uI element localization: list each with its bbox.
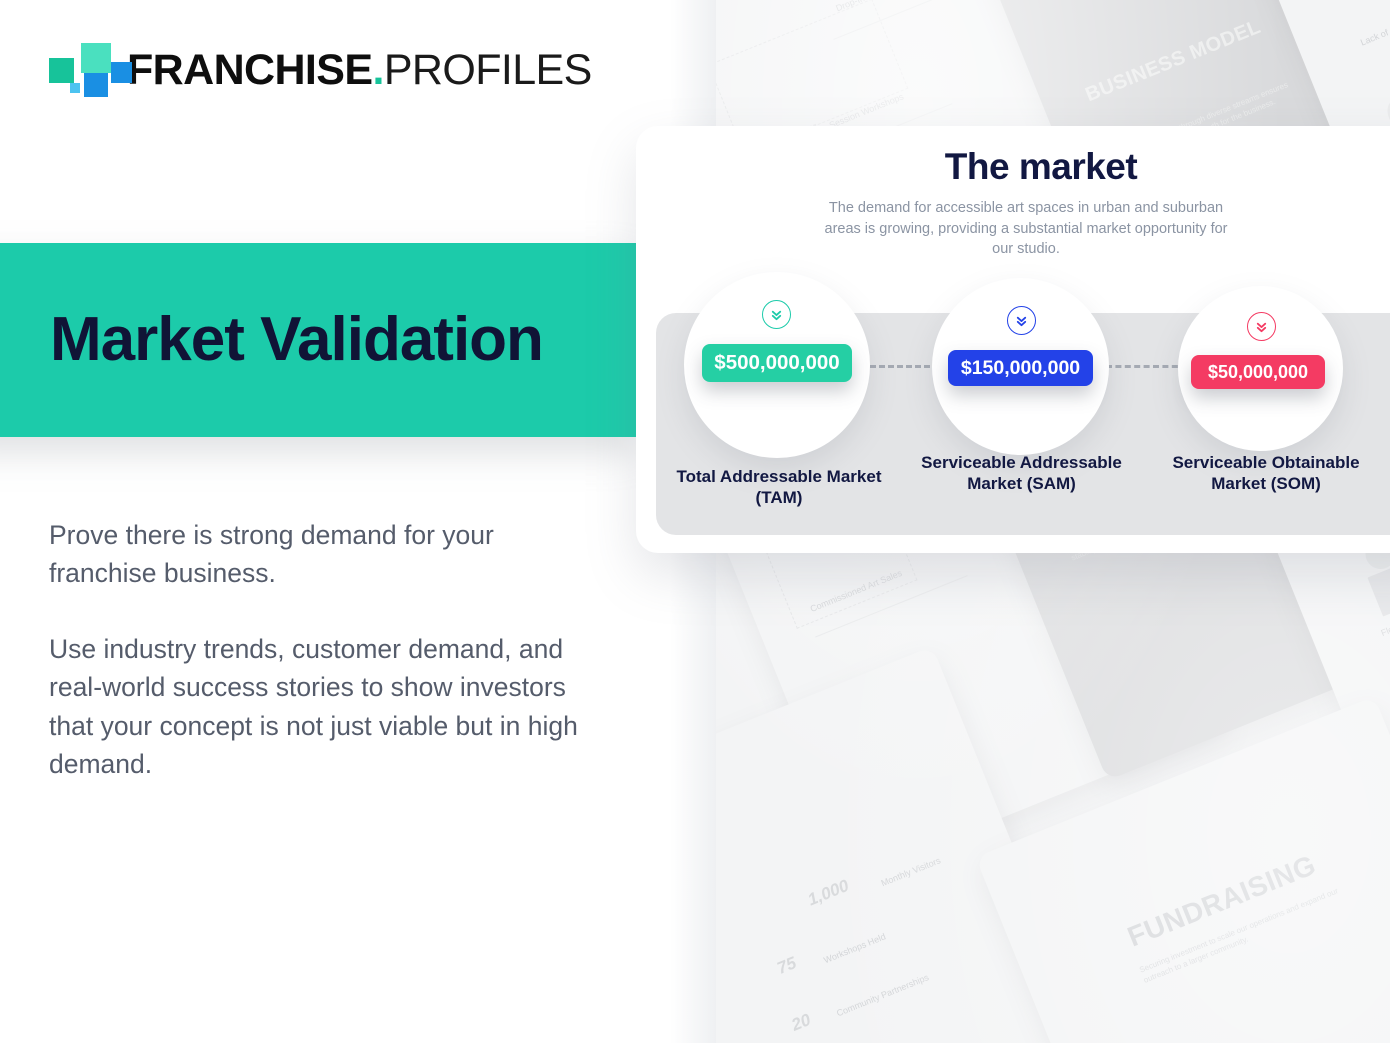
market-label-sam: Serviceable Addressable Market (SAM) bbox=[904, 452, 1139, 495]
background-slide-stat-value: 75 bbox=[774, 953, 799, 979]
background-slide-stat-label: Workshops Held bbox=[822, 931, 887, 965]
left-content-panel: FRANCHISE.PROFILES Market Validation Pro… bbox=[0, 0, 716, 1043]
paragraph-1: Prove there is strong demand for your fr… bbox=[49, 516, 589, 592]
body-copy: Prove there is strong demand for your fr… bbox=[49, 516, 589, 783]
background-slide-label: Lack of Accessibility bbox=[1359, 8, 1390, 47]
market-value-tam[interactable]: $500,000,000 bbox=[702, 344, 852, 382]
paragraph-2: Use industry trends, customer demand, an… bbox=[49, 630, 589, 783]
chevron-double-down-circle-icon bbox=[762, 300, 791, 329]
brand-logo[interactable]: FRANCHISE.PROFILES bbox=[49, 42, 592, 98]
background-slide-stat-label: Community Partnerships bbox=[835, 972, 930, 1018]
brand-wordmark: FRANCHISE.PROFILES bbox=[127, 49, 592, 92]
background-slide-stat-value: 1,000 bbox=[805, 876, 852, 910]
brand-name-dot: . bbox=[372, 46, 383, 94]
background-slide-stat-value: 20 bbox=[789, 1010, 814, 1036]
brand-name-light: PROFILES bbox=[384, 46, 592, 94]
page-title: Market Validation bbox=[0, 309, 543, 371]
squares-mosaic-icon bbox=[49, 42, 113, 98]
slide-canvas: Drop-In Fees Session Workshops Commissio… bbox=[0, 0, 1390, 1043]
market-label-som: Serviceable Obtainable Market (SOM) bbox=[1146, 452, 1386, 495]
market-value-som[interactable]: $50,000,000 bbox=[1191, 355, 1325, 389]
market-label-tam: Total Addressable Market (TAM) bbox=[664, 466, 894, 509]
market-card: The market The demand for accessible art… bbox=[636, 126, 1390, 553]
chevron-double-down-circle-icon bbox=[1247, 312, 1276, 341]
market-nodes: $500,000,000 Total Addressable Market (T… bbox=[636, 126, 1390, 553]
background-slide-stat-label: Monthly Visitors bbox=[880, 855, 942, 888]
headline-banner: Market Validation bbox=[0, 243, 636, 437]
chevron-double-down-circle-icon bbox=[1007, 306, 1036, 335]
market-value-sam[interactable]: $150,000,000 bbox=[948, 350, 1093, 386]
brand-name-bold: FRANCHISE bbox=[127, 46, 372, 94]
